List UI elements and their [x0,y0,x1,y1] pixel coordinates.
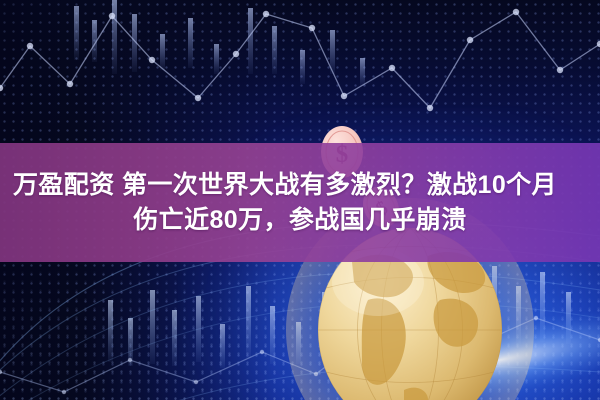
headline-line-1: 万盈配资 第一次世界大战有多激烈？激战10个月 [13,169,557,202]
headline-text-block: 万盈配资 第一次世界大战有多激烈？激战10个月 伤亡近80万，参战国几乎崩溃 [0,143,600,262]
banner-image: $ $ 万盈配资 第一次世界大战有多激烈？激战10个月 伤亡近80万，参战国几乎… [0,0,600,400]
headline-line-2: 伤亡近80万，参战国几乎崩溃 [133,204,466,237]
